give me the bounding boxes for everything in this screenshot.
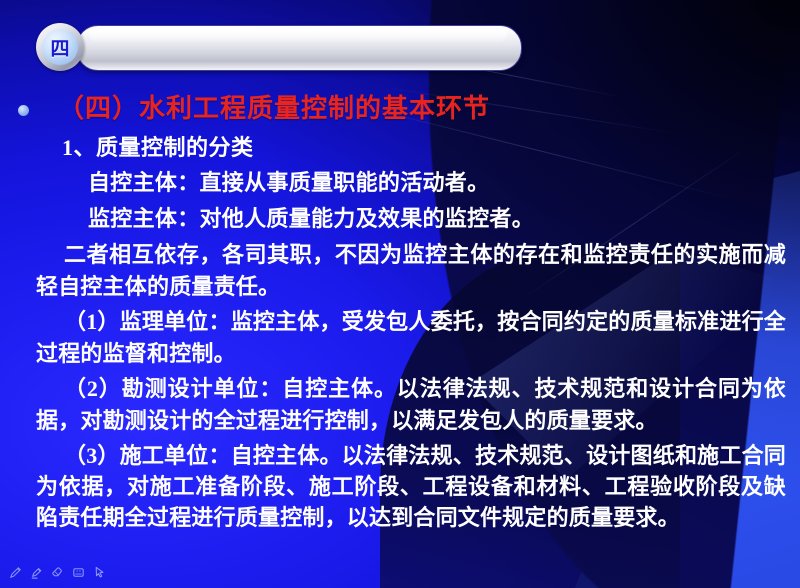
highlighter-icon[interactable] [29, 565, 44, 580]
pointer-icon[interactable] [92, 565, 107, 580]
slide-header-banner: 四 水利工程质量控制 [36, 23, 520, 71]
ink-options-icon[interactable] [71, 565, 86, 580]
definition-self-control: 自控主体：直接从事质量职能的活动者。 [88, 166, 800, 200]
heading-row: （四）水利工程质量控制的基本环节 [0, 92, 800, 126]
eraser-icon[interactable] [50, 565, 65, 580]
paragraph-supervision-unit: （1）监理单位：监控主体，受发包人委托，按合同约定的质量标准进行全过程的监督和控… [36, 306, 786, 370]
paragraph-design-unit: （2）勘测设计单位：自控主体。以法律法规、技术规范和设计合同为依据，对勘测设计的… [36, 373, 786, 437]
ink-annotation-toolbar[interactable] [8, 565, 107, 580]
section-heading: （四）水利工程质量控制的基本环节 [58, 92, 800, 126]
paragraph-interdependence: 二者相互依存，各司其职，不因为监控主体的存在和监控责任的实施而减轻自控主体的质量… [36, 239, 786, 303]
pill-highlight [89, 29, 507, 42]
presentation-slide: 四 水利工程质量控制 （四）水利工程质量控制的基本环节 1、质量控制的分类 自控… [0, 0, 800, 588]
section-number-badge: 四 [36, 23, 84, 71]
subsection-heading: 1、质量控制的分类 [62, 132, 800, 164]
paragraph-construction-unit: （3）施工单位：自控主体。以法律法规、技术规范、设计图纸和施工合同为依据，对施工… [36, 440, 786, 533]
bullet-dot-icon [18, 105, 29, 116]
definition-supervision: 监控主体：对他人质量能力及效果的监控者。 [88, 202, 800, 236]
pen-icon[interactable] [8, 565, 23, 580]
slide-content: （四）水利工程质量控制的基本环节 1、质量控制的分类 自控主体：直接从事质量职能… [0, 92, 800, 533]
section-number-label: 四 [42, 29, 78, 65]
header-title-pill [76, 25, 522, 71]
